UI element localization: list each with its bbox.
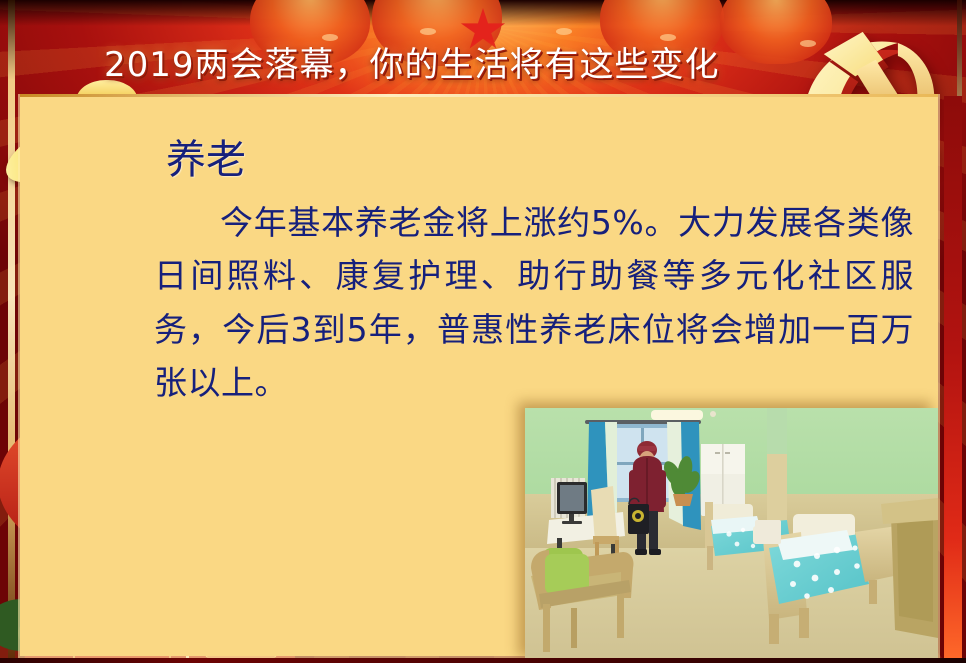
presentation-slide: 2019两会落幕，你的生活将有这些变化 养老 今年基本养老金将上涨约5%。大力发… [0, 0, 966, 663]
section-heading: 养老 [166, 138, 920, 182]
left-gold-frame-line [8, 0, 15, 663]
slide-title-band: 2019两会落幕，你的生活将有这些变化 [0, 34, 966, 96]
nursing-home-photo [525, 408, 938, 663]
bottom-edge-strip [0, 658, 966, 663]
page-title: 2019两会落幕，你的生活将有这些变化 [104, 48, 720, 82]
body-paragraph: 今年基本养老金将上涨约5%。大力发展各类像日间照料、康复护理、助行助餐等多元化社… [154, 196, 914, 410]
right-red-strip [944, 96, 962, 663]
